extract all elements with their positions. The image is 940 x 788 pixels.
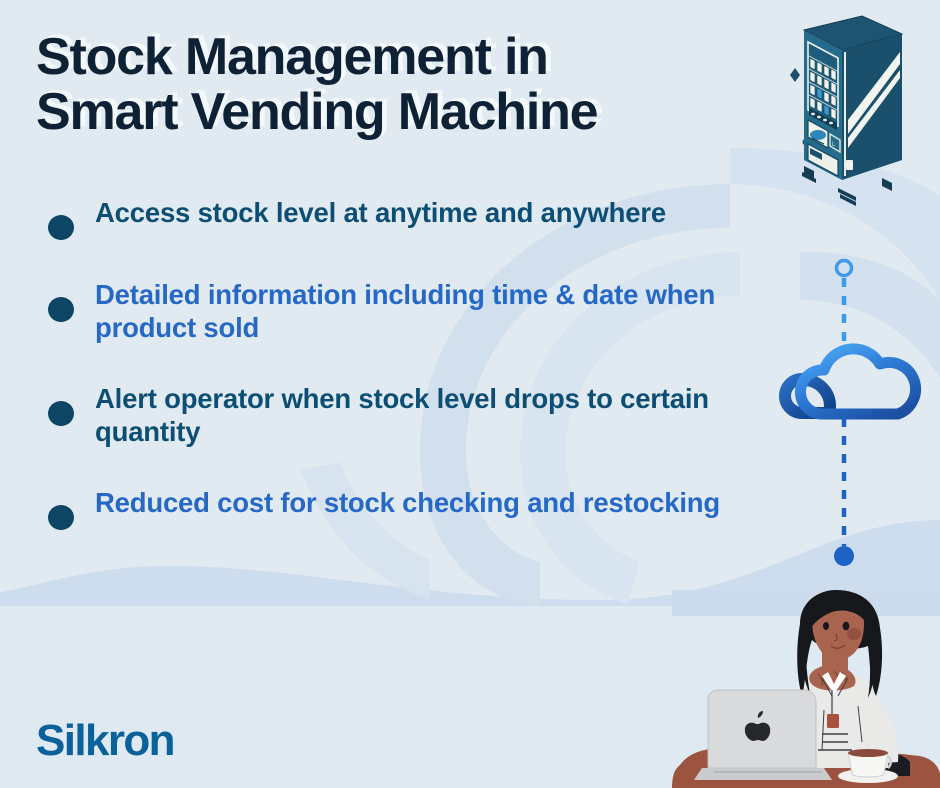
- list-item: Reduced cost for stock checking and rest…: [48, 486, 748, 530]
- bullet-dot-icon: [48, 401, 74, 426]
- bullet-dot-icon: [48, 215, 74, 240]
- title-line-1: Stock Management in: [36, 28, 548, 86]
- node-bottom-icon: [834, 546, 854, 566]
- woman-with-laptop-illustration: [672, 590, 940, 788]
- vending-machine-icon: L: [782, 8, 940, 208]
- list-item: Detailed information including time & da…: [48, 278, 748, 344]
- feature-list: Access stock level at anytime and anywhe…: [48, 196, 748, 568]
- poster-canvas: Stock Management in Smart Vending Machin…: [0, 0, 940, 788]
- cloud-connection-graphic: [766, 250, 940, 580]
- list-item: Alert operator when stock level drops to…: [48, 382, 748, 448]
- list-item: Access stock level at anytime and anywhe…: [48, 196, 748, 240]
- node-top-icon: [837, 261, 852, 276]
- bullet-dot-icon: [48, 297, 74, 322]
- bullet-dot-icon: [48, 505, 74, 530]
- list-item-text: Reduced cost for stock checking and rest…: [95, 486, 720, 519]
- list-item-text: Alert operator when stock level drops to…: [95, 382, 748, 448]
- list-item-text: Access stock level at anytime and anywhe…: [95, 196, 666, 229]
- list-item-text: Detailed information including time & da…: [95, 278, 748, 344]
- page-title: Stock Management in Smart Vending Machin…: [36, 30, 796, 140]
- silkron-logo: Silkron: [36, 716, 174, 766]
- title-line-2: Smart Vending Machine: [36, 85, 796, 140]
